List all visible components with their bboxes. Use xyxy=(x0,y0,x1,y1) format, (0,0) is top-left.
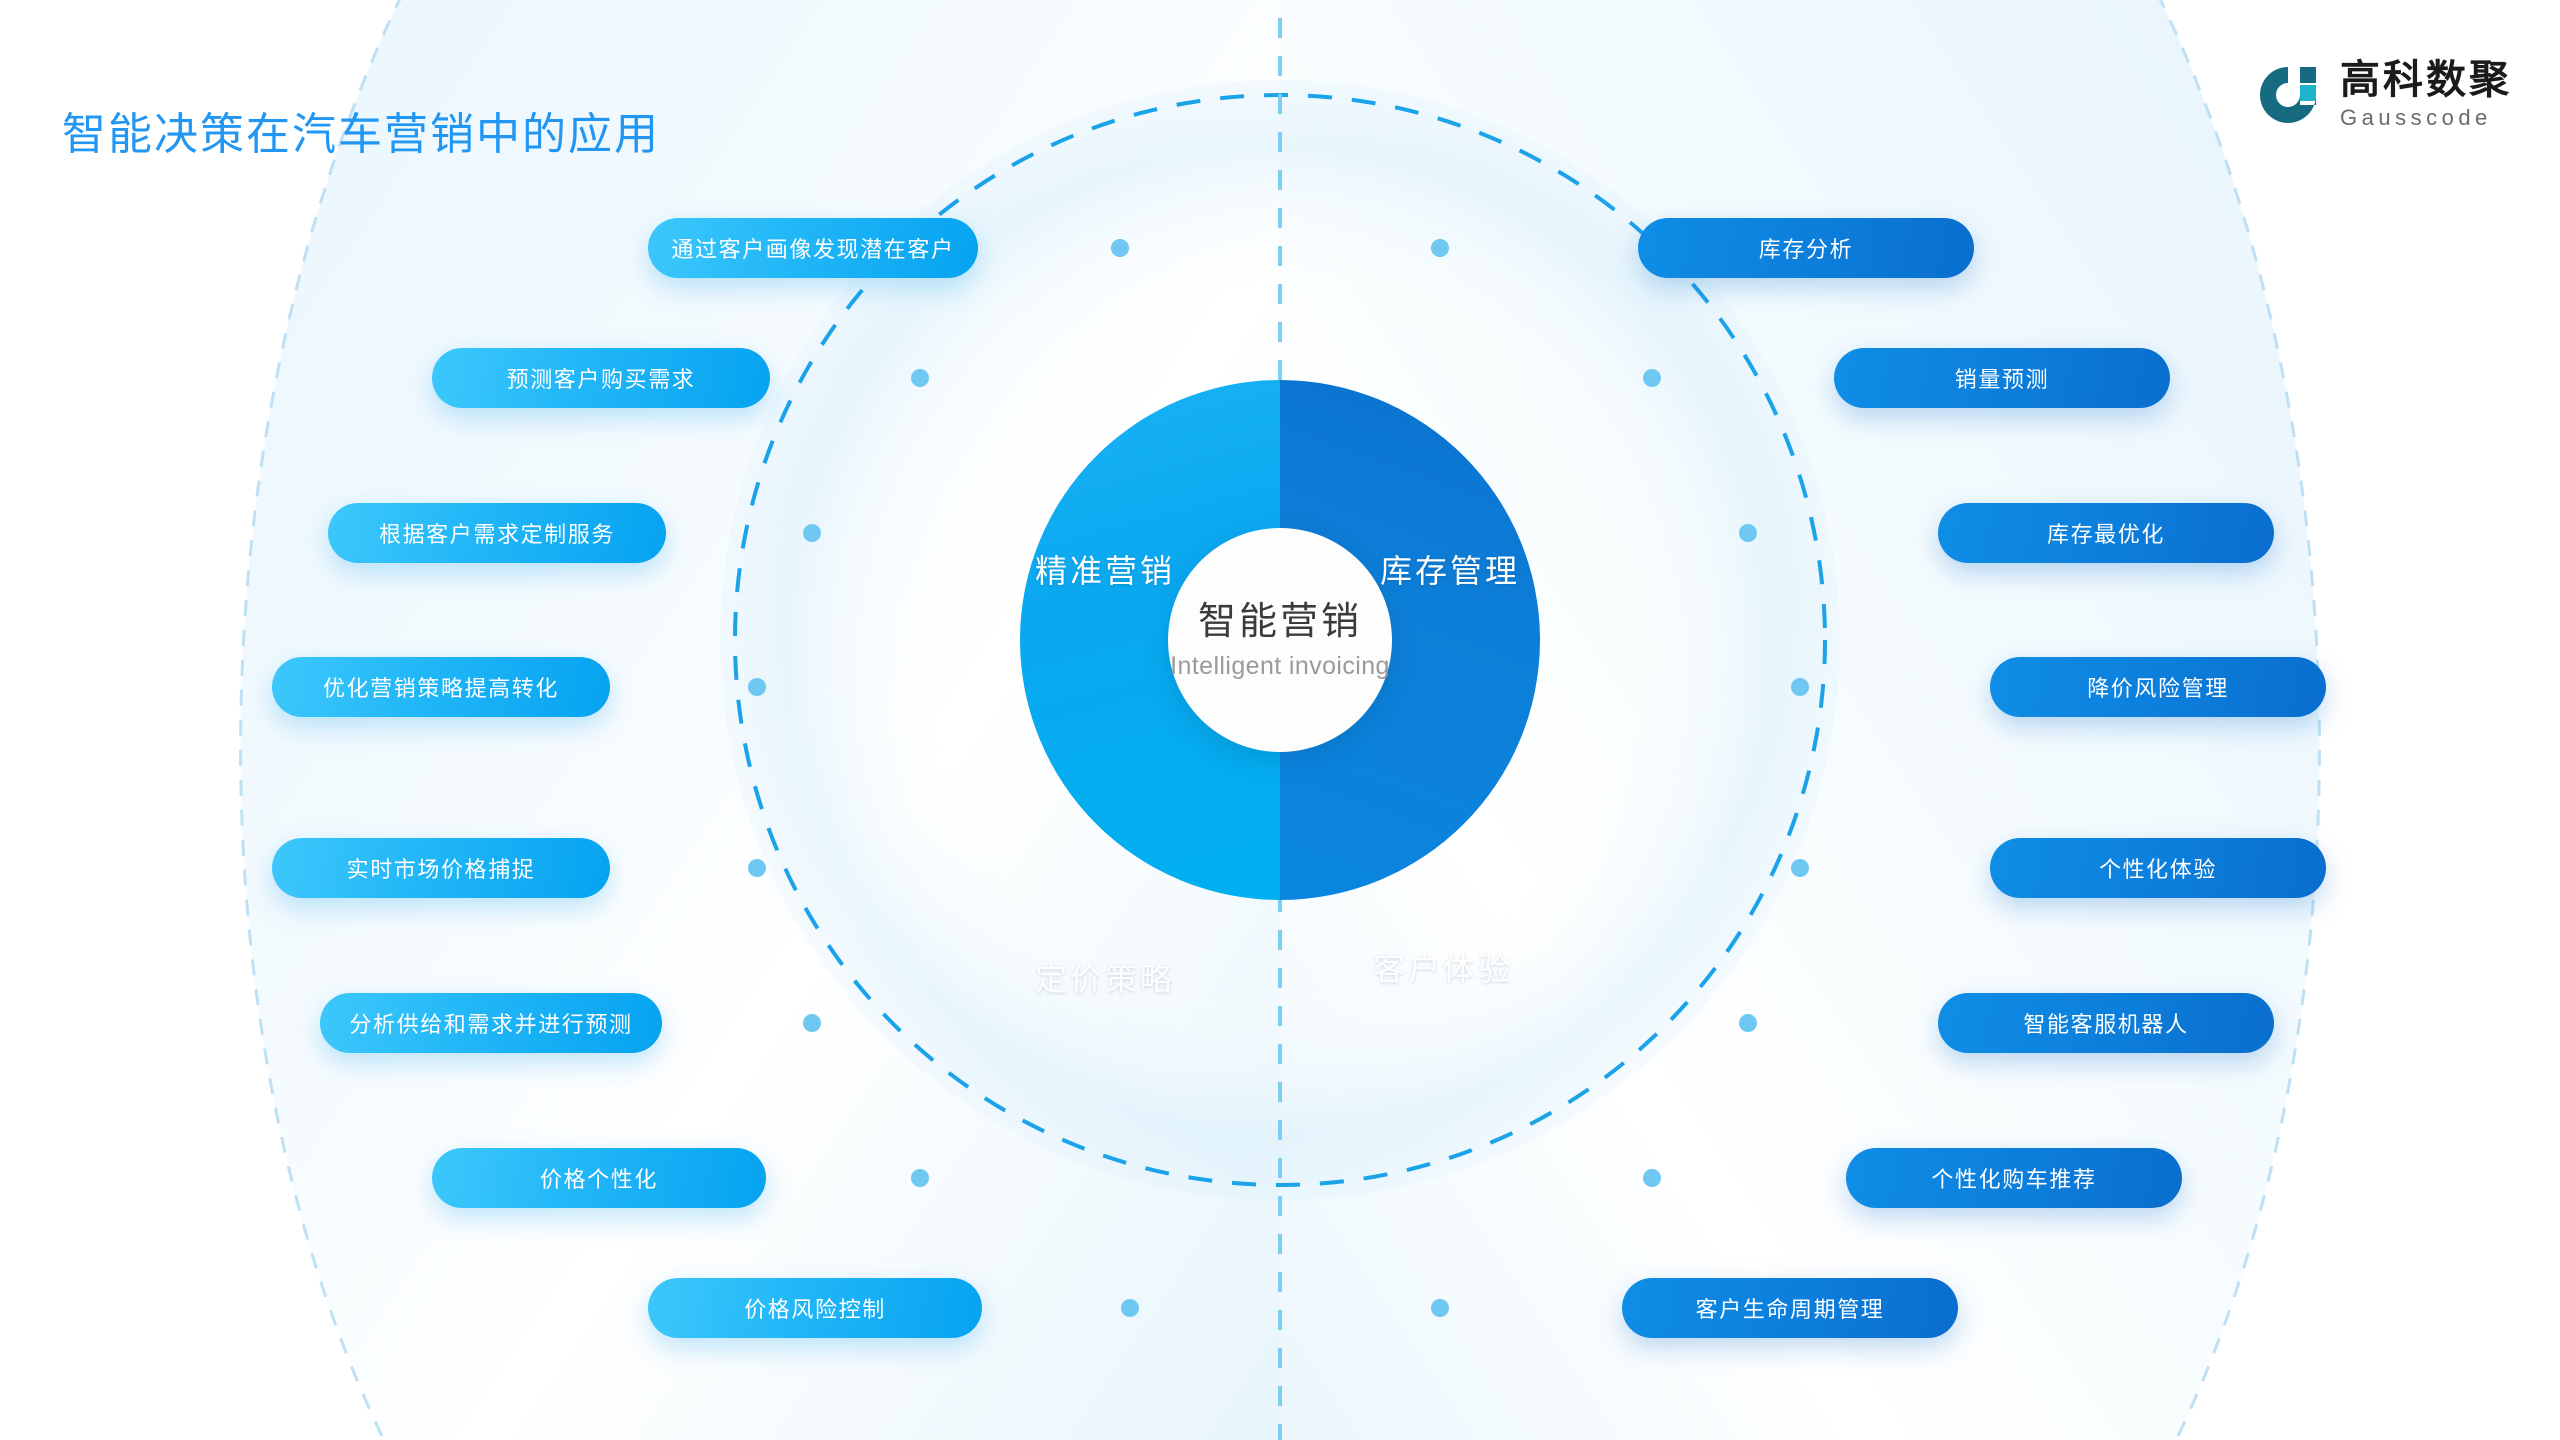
hub-title-en: Intelligent invoicing xyxy=(1170,652,1390,681)
right-item-pill-6[interactable]: 智能客服机器人 xyxy=(1938,993,2274,1053)
quadrant-label-top-left: 精准营销 xyxy=(1035,546,1175,592)
logo-name-en: Gausscode xyxy=(2340,107,2512,129)
hub-title-cn: 智能营销 xyxy=(1198,599,1362,647)
left-item-pill-2[interactable]: 预测客户购买需求 xyxy=(432,348,770,408)
infographic-canvas: 智能决策在汽车营销中的应用 高科数聚 Gausscode 精准营销 库存管理 定… xyxy=(0,0,2560,1440)
logo-name-cn: 高科数聚 xyxy=(2340,60,2512,100)
brand-logo: 高科数聚 Gausscode xyxy=(2256,60,2512,129)
left-item-pill-8[interactable]: 价格风险控制 xyxy=(648,1278,982,1338)
gausscode-logo-icon xyxy=(2256,63,2320,127)
left-item-pill-4[interactable]: 优化营销策略提高转化 xyxy=(272,657,610,717)
left-item-pill-5[interactable]: 实时市场价格捕捉 xyxy=(272,838,610,898)
right-item-pill-2[interactable]: 销量预测 xyxy=(1834,348,2170,408)
right-item-pill-3[interactable]: 库存最优化 xyxy=(1938,503,2274,563)
left-item-pill-3[interactable]: 根据客户需求定制服务 xyxy=(328,503,666,563)
quadrant-label-bottom-left: 定价策略 xyxy=(1035,954,1175,1000)
center-hub: 智能营销 Intelligent invoicing xyxy=(1168,528,1392,752)
right-item-pill-7[interactable]: 个性化购车推荐 xyxy=(1846,1148,2182,1208)
page-title: 智能决策在汽车营销中的应用 xyxy=(62,98,660,162)
right-item-pill-8[interactable]: 客户生命周期管理 xyxy=(1622,1278,1958,1338)
right-item-pill-5[interactable]: 个性化体验 xyxy=(1990,838,2326,898)
right-item-pill-1[interactable]: 库存分析 xyxy=(1638,218,1974,278)
left-item-pill-1[interactable]: 通过客户画像发现潜在客户 xyxy=(648,218,978,278)
quadrant-label-bottom-right: 客户体验 xyxy=(1373,944,1513,990)
right-item-pill-4[interactable]: 降价风险管理 xyxy=(1990,657,2326,717)
left-item-pill-7[interactable]: 价格个性化 xyxy=(432,1148,766,1208)
left-item-pill-6[interactable]: 分析供给和需求并进行预测 xyxy=(320,993,662,1053)
quadrant-label-top-right: 库存管理 xyxy=(1380,546,1520,592)
